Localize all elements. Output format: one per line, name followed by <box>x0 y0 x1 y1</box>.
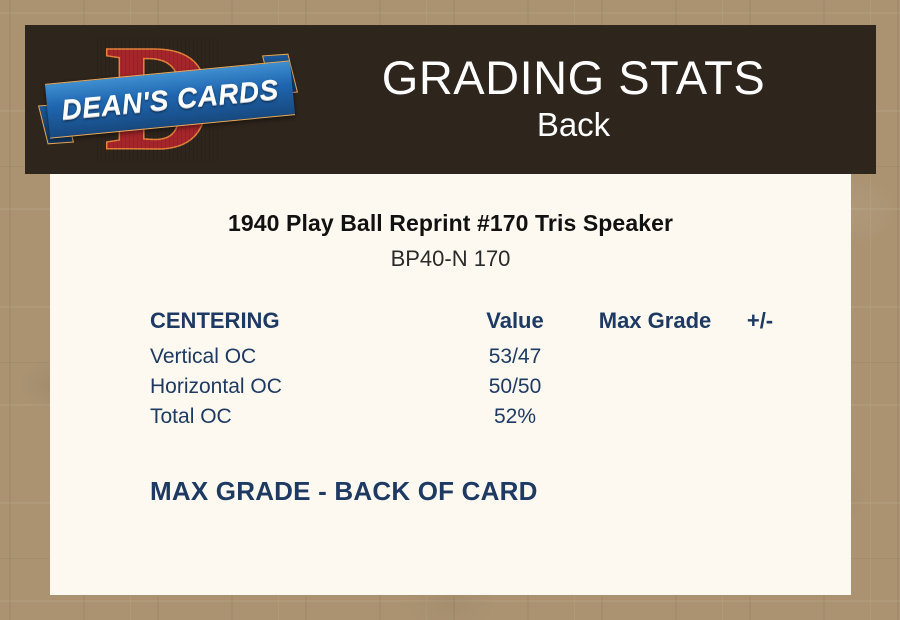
row-max-grade-horizontal-oc <box>580 372 730 402</box>
column-header-plus-minus: +/- <box>730 308 790 342</box>
header-bar: D DEAN'S CARDS GRADING STATS Back <box>25 25 876 174</box>
row-plus-minus-vertical-oc <box>730 342 790 372</box>
header-titles: GRADING STATS Back <box>295 54 876 145</box>
table-header-row: CENTERING Value Max Grade +/- <box>150 308 790 342</box>
row-label-horizontal-oc: Horizontal OC <box>150 372 450 402</box>
table-row: Horizontal OC 50/50 <box>150 372 790 402</box>
row-label-total-oc: Total OC <box>150 402 450 432</box>
centering-table-body: Vertical OC 53/47 Horizontal OC 50/50 To… <box>150 342 790 432</box>
row-max-grade-vertical-oc <box>580 342 730 372</box>
logo-ribbon: DEAN'S CARDS <box>45 60 295 138</box>
max-grade-heading: MAX GRADE - BACK OF CARD <box>150 476 851 507</box>
centering-table-head: CENTERING Value Max Grade +/- <box>150 308 790 342</box>
content-panel: 1940 Play Ball Reprint #170 Tris Speaker… <box>50 174 851 595</box>
table-row: Vertical OC 53/47 <box>150 342 790 372</box>
row-max-grade-total-oc <box>580 402 730 432</box>
row-label-vertical-oc: Vertical OC <box>150 342 450 372</box>
page-subtitle: Back <box>295 104 852 145</box>
page-title: GRADING STATS <box>295 54 852 102</box>
deans-cards-logo[interactable]: D DEAN'S CARDS <box>45 30 295 170</box>
column-header-max-grade: Max Grade <box>580 308 730 342</box>
column-header-centering: CENTERING <box>150 308 450 342</box>
logo-ribbon-text: DEAN'S CARDS <box>60 73 280 126</box>
row-value-vertical-oc: 53/47 <box>450 342 580 372</box>
column-header-value: Value <box>450 308 580 342</box>
row-plus-minus-horizontal-oc <box>730 372 790 402</box>
table-row: Total OC 52% <box>150 402 790 432</box>
card-title: 1940 Play Ball Reprint #170 Tris Speaker <box>50 174 851 237</box>
row-value-total-oc: 52% <box>450 402 580 432</box>
centering-table: CENTERING Value Max Grade +/- Vertical O… <box>150 308 790 432</box>
row-plus-minus-total-oc <box>730 402 790 432</box>
row-value-horizontal-oc: 50/50 <box>450 372 580 402</box>
card-subtitle: BP40-N 170 <box>50 246 851 272</box>
